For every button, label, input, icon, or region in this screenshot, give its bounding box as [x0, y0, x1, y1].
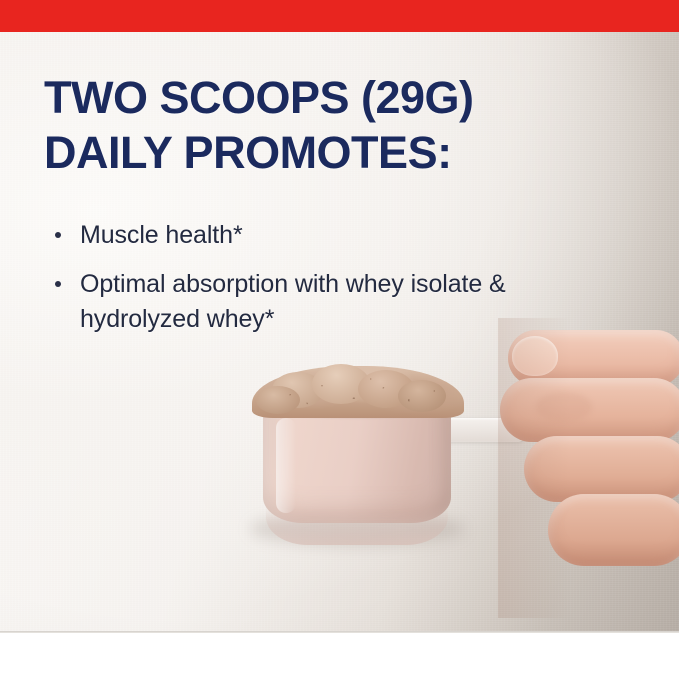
product-benefits-card: TWO SCOOPS (29G) DAILY PROMOTES: Muscle … — [0, 0, 679, 679]
scoop-cup-base-shading — [266, 505, 448, 545]
footer: *These statements have not been evaluate… — [0, 633, 679, 679]
headline-line-1: TWO SCOOPS (29G) — [44, 72, 474, 123]
benefit-text: Optimal absorption with whey isolate & h… — [80, 270, 506, 333]
benefit-text: Muscle health* — [80, 221, 243, 249]
benefits-list: Muscle health* Optimal absorption with w… — [50, 218, 510, 351]
hand-shading — [498, 318, 679, 618]
benefit-item: Muscle health* — [50, 218, 510, 253]
scoop-cup-highlight — [276, 418, 296, 513]
headline-line-2: DAILY PROMOTES: — [44, 125, 644, 180]
powder-speckle-texture — [252, 366, 464, 418]
bullet-dot-icon — [55, 281, 61, 287]
bullet-dot-icon — [55, 232, 61, 238]
headline: TWO SCOOPS (29G) DAILY PROMOTES: — [44, 70, 644, 180]
benefit-item: Optimal absorption with whey isolate & h… — [50, 267, 510, 337]
